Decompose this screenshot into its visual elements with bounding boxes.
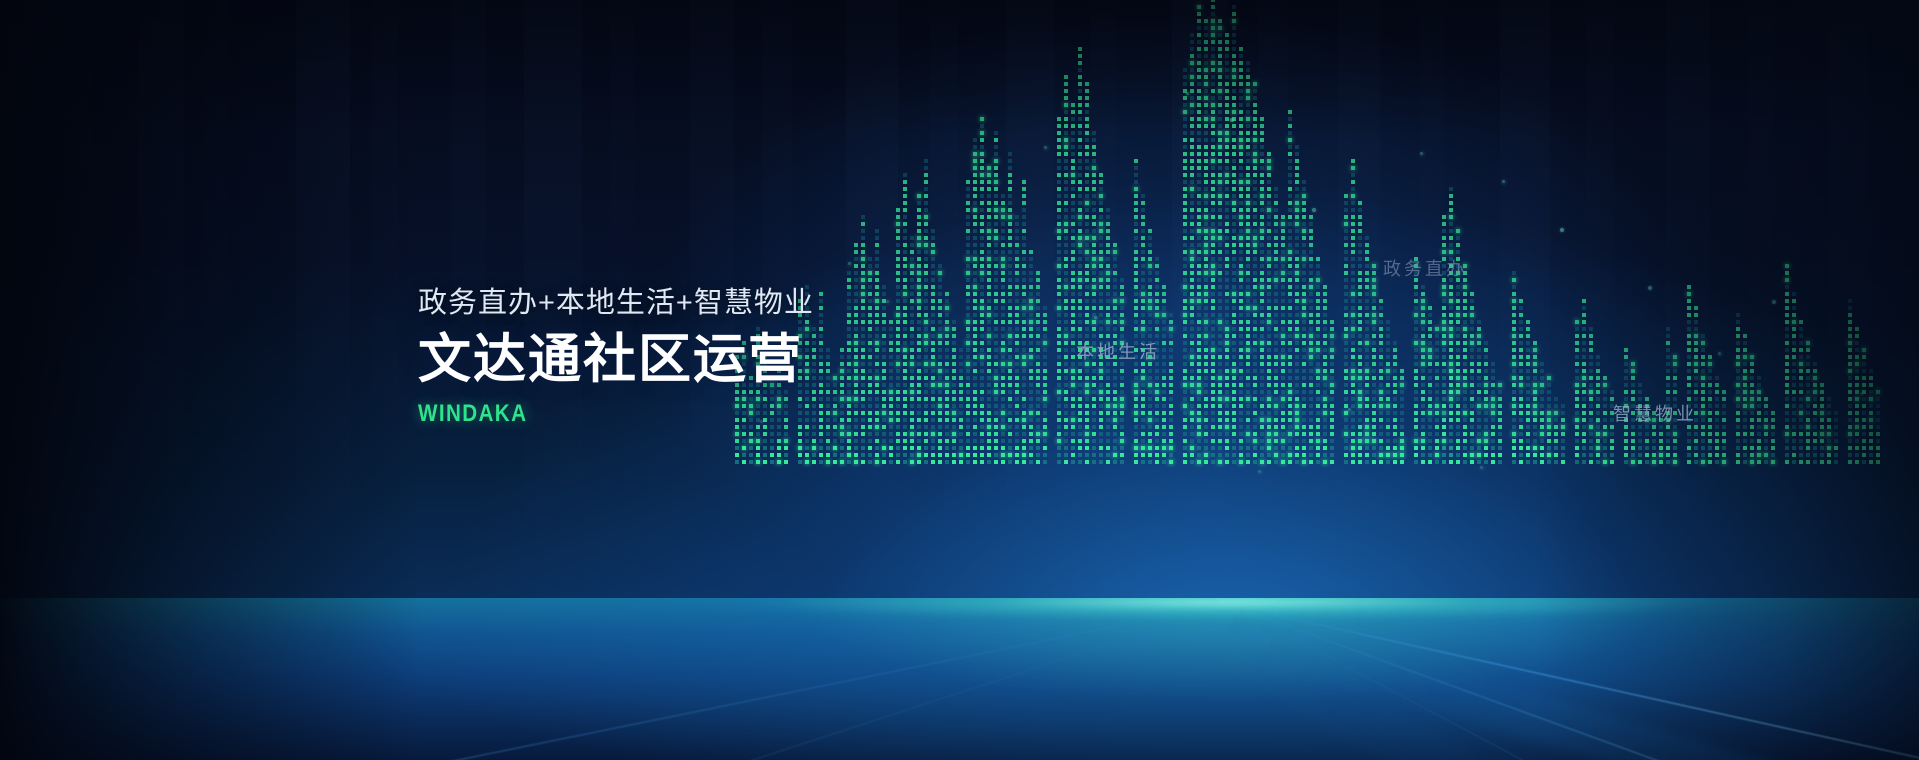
building-column	[1498, 376, 1502, 464]
building-column	[1834, 406, 1838, 464]
building-column	[1547, 372, 1551, 464]
building-column	[1036, 268, 1040, 464]
building-column	[854, 238, 858, 464]
building-column	[1393, 338, 1397, 464]
building-column	[917, 188, 921, 464]
building-column	[896, 202, 900, 464]
building-column	[1442, 212, 1446, 464]
building-column	[1533, 338, 1537, 464]
building-column	[1449, 184, 1453, 464]
horizon-glow	[0, 598, 1919, 630]
building-column	[819, 288, 823, 464]
building-column	[1260, 112, 1264, 464]
building-column	[1554, 388, 1558, 464]
building-column	[1043, 300, 1047, 464]
building-column	[1288, 104, 1292, 464]
building-column	[1351, 152, 1355, 464]
building-column	[840, 344, 844, 464]
building-column	[875, 226, 879, 464]
building-column	[1309, 212, 1313, 464]
building-column	[952, 312, 956, 464]
building-column	[1358, 196, 1362, 464]
building-column	[1057, 112, 1061, 464]
building-column	[980, 108, 984, 464]
building-column	[1785, 260, 1789, 464]
building-column	[1701, 326, 1705, 464]
building-column	[1484, 336, 1488, 464]
building-column	[1106, 202, 1110, 464]
building-column	[1596, 346, 1600, 464]
building-column	[1029, 242, 1033, 464]
building-column	[1470, 286, 1474, 464]
building-column	[889, 314, 893, 464]
building-column	[1246, 56, 1250, 464]
building-column	[1771, 402, 1775, 464]
ground-plane	[0, 598, 1919, 760]
building-column	[1204, 16, 1208, 464]
building-column	[1743, 330, 1747, 464]
building-column	[1414, 252, 1418, 464]
building-column	[1022, 176, 1026, 464]
building-column	[1855, 320, 1859, 464]
building-column	[1813, 358, 1817, 464]
building-column	[945, 284, 949, 464]
building-column	[1687, 278, 1691, 464]
building-column	[1491, 358, 1495, 464]
building-column	[833, 368, 837, 464]
building-column	[1323, 280, 1327, 464]
building-column	[1120, 274, 1124, 464]
building-column	[1295, 140, 1299, 464]
building-column	[1757, 372, 1761, 464]
building-column	[1463, 258, 1467, 464]
building-column	[1316, 248, 1320, 464]
building-column	[847, 268, 851, 464]
building-column	[1400, 360, 1404, 464]
building-column	[1253, 78, 1257, 464]
building-column	[868, 250, 872, 464]
hero-headline: 文达通社区运营	[418, 331, 814, 388]
building-column	[1526, 316, 1530, 464]
building-column	[910, 228, 914, 464]
building-column	[903, 166, 907, 464]
building-column	[1225, 26, 1229, 464]
skyline-tag: 智慧物业	[1613, 400, 1697, 426]
skyline-tag: 政务直办	[1383, 255, 1467, 281]
building-column	[1708, 350, 1712, 464]
building-column	[1575, 316, 1579, 464]
building-column	[1750, 352, 1754, 464]
building-column	[1477, 314, 1481, 464]
building-column	[1134, 156, 1138, 464]
building-column	[1344, 188, 1348, 464]
building-column	[1806, 336, 1810, 464]
building-column	[1211, 0, 1215, 464]
building-column	[1715, 370, 1719, 464]
building-column	[1197, 0, 1201, 464]
building-column	[861, 212, 865, 464]
building-column	[1015, 212, 1019, 464]
building-column	[1239, 38, 1243, 464]
building-column	[1589, 322, 1593, 464]
building-column	[1421, 276, 1425, 464]
building-column	[931, 220, 935, 464]
building-column	[1281, 212, 1285, 464]
building-column	[924, 152, 928, 464]
building-column	[1848, 296, 1852, 464]
hero-copy: 政务直办+本地生活+智慧物业 文达通社区运营 WINDAKA	[418, 288, 814, 428]
building-column	[1820, 376, 1824, 464]
building-column	[1274, 178, 1278, 464]
building-column	[1603, 368, 1607, 464]
building-column	[1372, 260, 1376, 464]
building-column	[994, 122, 998, 464]
building-column	[1435, 322, 1439, 464]
building-column	[1792, 286, 1796, 464]
building-column	[1365, 228, 1369, 464]
building-column	[1064, 72, 1068, 464]
building-column	[1379, 292, 1383, 464]
building-column	[1862, 344, 1866, 464]
building-column	[1001, 188, 1005, 464]
skyline-tag: 本地生活	[1076, 338, 1160, 364]
building-column	[1827, 392, 1831, 464]
building-column	[1190, 28, 1194, 464]
city-skyline-chart	[0, 0, 1919, 612]
building-column	[1876, 384, 1880, 464]
building-column	[987, 158, 991, 464]
building-column	[1330, 312, 1334, 464]
building-column	[1694, 302, 1698, 464]
building-column	[1232, 2, 1236, 464]
building-column	[1666, 322, 1670, 464]
building-column	[1218, 10, 1222, 464]
building-column	[1267, 146, 1271, 464]
building-column	[1085, 78, 1089, 464]
building-column	[938, 256, 942, 464]
building-column	[1736, 306, 1740, 464]
building-column	[1078, 44, 1082, 464]
building-column	[1512, 268, 1516, 464]
hero-subtitle: 政务直办+本地生活+智慧物业	[418, 288, 814, 320]
building-column	[1169, 308, 1173, 464]
building-column	[966, 176, 970, 464]
building-column	[1764, 388, 1768, 464]
building-column	[1162, 276, 1166, 464]
brand-wordmark: WINDAKA	[418, 400, 758, 428]
building-column	[959, 340, 963, 464]
building-column	[1302, 176, 1306, 464]
building-column	[1561, 400, 1565, 464]
building-column	[1722, 386, 1726, 464]
building-column	[1799, 312, 1803, 464]
building-column	[1540, 356, 1544, 464]
building-column	[1092, 124, 1096, 464]
building-column	[1869, 366, 1873, 464]
building-column	[882, 282, 886, 464]
hero-banner: 政务直办+本地生活+智慧物业 文达通社区运营 WINDAKA 本地生活政务直办智…	[0, 0, 1919, 760]
building-column	[826, 340, 830, 464]
building-column	[1582, 296, 1586, 464]
building-column	[1386, 316, 1390, 464]
building-column	[1428, 300, 1432, 464]
building-column	[1008, 146, 1012, 464]
building-column	[1183, 62, 1187, 464]
building-column	[1099, 166, 1103, 464]
building-column	[973, 134, 977, 464]
building-column	[1141, 188, 1145, 464]
building-column	[1071, 96, 1075, 464]
building-column	[1519, 292, 1523, 464]
